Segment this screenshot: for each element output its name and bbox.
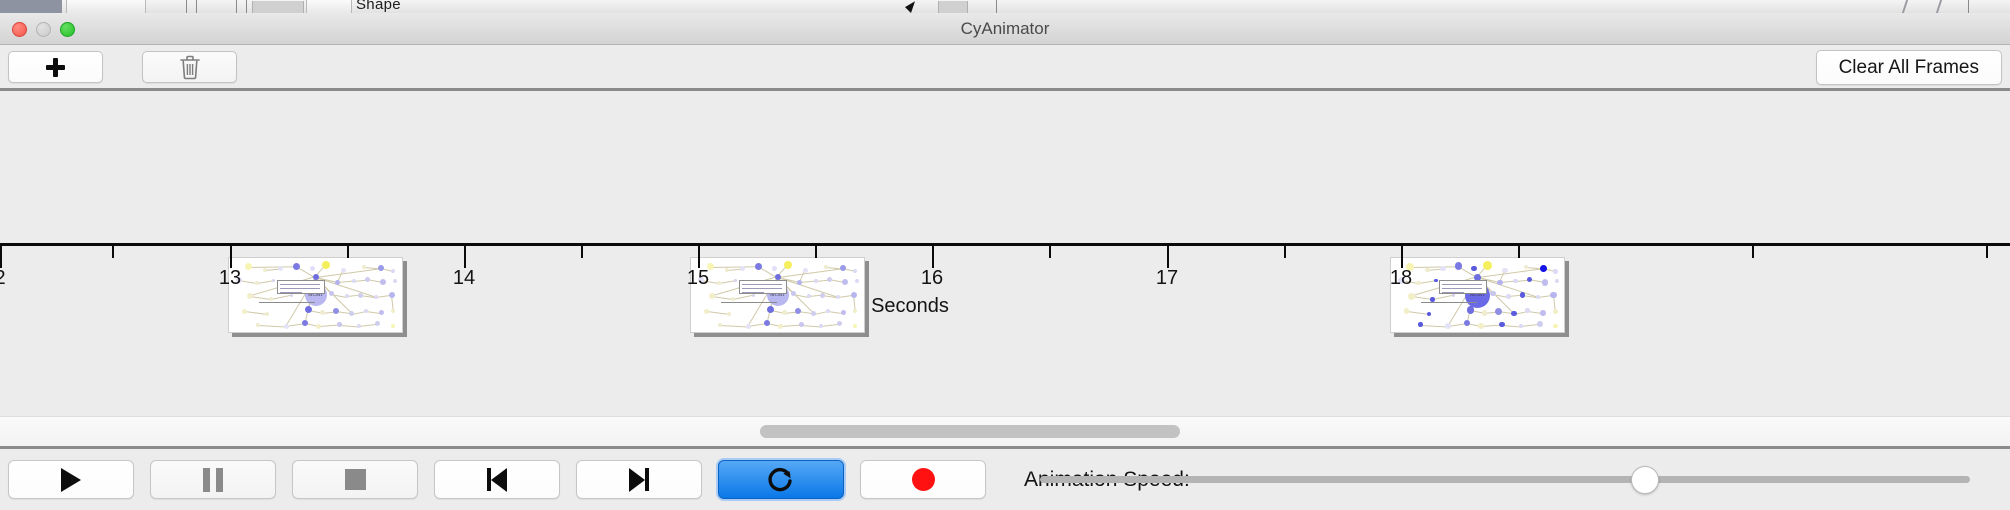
clear-all-frames-button[interactable]: Clear All Frames <box>1816 50 2002 85</box>
network-node <box>1536 295 1540 299</box>
network-node <box>746 324 751 329</box>
network-node <box>365 277 370 282</box>
window-title: CyAnimator <box>0 13 2010 45</box>
network-node <box>755 263 762 270</box>
network-node <box>391 309 395 313</box>
network-caption <box>259 302 315 303</box>
background-divider <box>246 0 247 13</box>
network-node <box>799 322 804 327</box>
network-node <box>725 268 729 272</box>
network-node <box>374 295 378 299</box>
timeline-tick-label: 14 <box>453 267 475 290</box>
tooltip-text-line <box>1442 292 1464 293</box>
network-caption <box>1421 302 1477 303</box>
network-node <box>245 263 252 270</box>
loop-button[interactable] <box>718 460 844 499</box>
network-node <box>791 291 796 296</box>
network-edge <box>706 311 729 315</box>
network-edge <box>316 268 382 278</box>
timeline-tick-major <box>1401 246 1403 268</box>
timeline-tick-label: 13 <box>219 267 241 290</box>
network-node <box>379 310 384 315</box>
network-tooltip <box>277 280 325 294</box>
network-edge <box>248 266 296 268</box>
network-node <box>322 261 330 269</box>
background-slash <box>1936 0 1954 13</box>
network-node <box>1418 322 1422 326</box>
background-window-label: Shape <box>356 0 401 13</box>
network-edge <box>1433 295 1454 300</box>
network-node <box>837 321 842 326</box>
network-node <box>389 292 395 298</box>
network-node <box>255 281 259 285</box>
network-tooltip <box>739 280 787 294</box>
network-caption <box>721 302 777 303</box>
network-node <box>1506 294 1510 298</box>
network-node <box>305 306 312 313</box>
background-divider <box>236 0 237 13</box>
network-node <box>1427 312 1431 316</box>
network-node <box>772 266 777 271</box>
skip-to-end-icon <box>629 468 649 492</box>
network-node <box>1525 308 1529 312</box>
background-window-segment <box>306 0 352 13</box>
tooltip-text-line <box>742 288 782 289</box>
network-thumbnail: MCM1 <box>691 258 864 332</box>
timeline-axis <box>0 243 2010 246</box>
tooltip-text-line <box>742 292 764 293</box>
loop-icon <box>766 465 796 495</box>
network-node <box>393 279 397 283</box>
network-node <box>1499 322 1505 328</box>
network-node <box>1520 292 1526 298</box>
network-node <box>824 265 828 269</box>
network-node <box>329 291 334 296</box>
network-node <box>811 311 816 316</box>
tooltip-text-line <box>742 284 782 285</box>
timeline-tick-minor <box>815 246 817 258</box>
network-node <box>247 293 253 299</box>
timeline-tick-minor <box>581 246 583 258</box>
network-node <box>1555 279 1559 283</box>
network-node <box>1540 310 1546 316</box>
network-node <box>320 310 325 315</box>
network-node <box>853 309 857 313</box>
network-edge <box>720 325 748 327</box>
network-node <box>734 279 737 282</box>
record-icon <box>912 468 935 491</box>
network-edge <box>1410 266 1458 268</box>
pause-icon <box>203 468 223 492</box>
network-node <box>333 308 339 314</box>
network-node <box>1550 292 1557 299</box>
network-node <box>1519 324 1523 328</box>
network-node <box>242 309 247 314</box>
background-divider <box>196 0 197 13</box>
network-node <box>1553 309 1557 313</box>
network-node <box>704 309 709 314</box>
background-window-segment <box>66 0 146 13</box>
network-edge <box>244 311 267 315</box>
plus-icon <box>46 58 65 77</box>
network-node <box>764 320 770 326</box>
animation-speed-thumb[interactable] <box>1631 466 1659 494</box>
playback-control-bar: Animation Speed: <box>0 449 2010 510</box>
network-node <box>391 324 395 328</box>
timeline-frame[interactable]: MCM1 <box>228 257 403 333</box>
network-node <box>310 266 315 271</box>
record-button[interactable] <box>860 460 986 499</box>
network-node <box>740 266 745 271</box>
network-edge <box>710 266 758 268</box>
network-node <box>855 279 859 283</box>
network-edge <box>1420 325 1448 327</box>
network-node <box>293 263 300 270</box>
network-node <box>784 261 792 269</box>
network-edge <box>258 325 286 327</box>
frame-thumbnail[interactable]: MCM1 <box>1390 257 1565 333</box>
network-edge <box>802 325 821 327</box>
network-node <box>1430 297 1434 301</box>
network-node <box>1416 281 1420 285</box>
background-divider <box>186 0 187 13</box>
network-edge <box>778 268 844 278</box>
timeline-panel[interactable]: MCM1MCM1MCM1 2131415161718 Seconds <box>0 91 2010 416</box>
network-node <box>819 324 823 328</box>
stop-icon <box>345 469 366 490</box>
network-node <box>375 321 380 326</box>
network-node <box>826 309 830 313</box>
network-node <box>803 268 808 273</box>
network-node <box>357 324 361 328</box>
timeline-tick-major <box>698 246 700 268</box>
tooltip-text-line <box>280 288 320 289</box>
timeline-tick-minor <box>1752 246 1754 258</box>
timeline-frame[interactable]: MCM1 <box>1390 257 1565 333</box>
skip-to-start-icon <box>487 468 507 492</box>
network-node <box>841 310 846 315</box>
timeline-tick-label: 15 <box>687 267 709 290</box>
network-thumbnail: MCM1 <box>1391 258 1564 332</box>
background-box <box>938 1 968 13</box>
network-node <box>1527 277 1533 283</box>
timeline-tick-minor <box>1986 246 1988 258</box>
background-box <box>252 1 304 13</box>
network-node <box>272 279 275 282</box>
network-node <box>1553 324 1557 328</box>
trash-icon <box>179 54 201 80</box>
network-edge <box>340 325 359 327</box>
background-divider <box>996 0 997 13</box>
skip-to-end-button[interactable] <box>576 460 702 499</box>
network-tooltip <box>1439 280 1487 294</box>
tooltip-text-line <box>1442 288 1482 289</box>
network-node <box>851 292 857 298</box>
network-node <box>1482 310 1488 316</box>
network-edge <box>271 295 292 300</box>
network-node <box>727 312 731 316</box>
stop-button[interactable] <box>292 460 418 499</box>
network-node <box>1524 265 1528 269</box>
network-node <box>1490 291 1496 297</box>
background-window-strip: Shape <box>0 0 2010 13</box>
network-thumbnail: MCM1 <box>229 258 402 332</box>
timeline-tick-major <box>464 246 466 268</box>
network-node <box>1445 323 1451 329</box>
timeline-scrollbar[interactable] <box>0 416 2010 446</box>
timeline-tick-minor <box>112 246 114 258</box>
network-node <box>717 281 721 285</box>
network-edge <box>1406 311 1429 315</box>
network-node <box>1434 279 1437 282</box>
play-icon <box>61 468 81 492</box>
network-node <box>1495 308 1502 315</box>
timeline-tick-major <box>230 246 232 268</box>
add-frame-button[interactable] <box>8 51 103 83</box>
network-node <box>1478 323 1484 329</box>
network-node <box>1537 321 1543 327</box>
network-node <box>284 324 289 329</box>
frame-thumbnail[interactable]: MCM1 <box>228 257 403 333</box>
timeline-axis-title: Seconds <box>871 295 949 318</box>
network-node <box>263 268 267 272</box>
tooltip-text-line <box>280 284 320 285</box>
network-node <box>1408 293 1415 300</box>
network-node <box>1425 268 1429 272</box>
network-node <box>1404 308 1410 314</box>
timeline-tick-label: 2 <box>0 267 6 290</box>
titlebar[interactable]: CyAnimator <box>0 13 2010 45</box>
timeline-tick-minor <box>1518 246 1520 258</box>
timeline-tick-minor <box>1049 246 1051 258</box>
network-node <box>341 268 346 273</box>
network-node <box>1440 266 1446 272</box>
background-window-titlebar <box>0 0 62 13</box>
network-node <box>840 265 846 271</box>
toolbar: Clear All Frames <box>0 45 2010 88</box>
network-node <box>853 269 857 273</box>
animation-speed-slider[interactable] <box>1040 449 1970 510</box>
network-node <box>836 295 840 299</box>
background-slash <box>1902 0 1920 13</box>
network-node <box>709 293 715 299</box>
network-node <box>778 324 783 329</box>
tooltip-text-line <box>280 292 302 293</box>
network-node <box>316 324 321 329</box>
network-node <box>827 277 832 282</box>
network-node <box>795 308 801 314</box>
network-node <box>1553 269 1557 273</box>
pause-button[interactable] <box>150 460 276 499</box>
background-cursor-glyph <box>905 0 915 13</box>
network-node <box>1471 266 1477 272</box>
network-node <box>362 265 366 269</box>
network-node <box>1540 265 1547 272</box>
network-node <box>302 320 308 326</box>
network-node <box>364 309 368 313</box>
timeline-tick-major <box>932 246 934 268</box>
tooltip-text-line <box>1442 284 1482 285</box>
timeline-tick-label: 18 <box>1390 267 1412 290</box>
network-node <box>814 279 818 283</box>
network-node <box>265 312 269 316</box>
animation-speed-track[interactable] <box>1040 476 1970 483</box>
network-node <box>842 279 848 285</box>
network-node <box>269 297 273 301</box>
network-node <box>380 279 386 285</box>
timeline-scrollbar-thumb[interactable] <box>760 425 1180 438</box>
network-node <box>853 324 857 328</box>
timeline-tick-label: 17 <box>1156 267 1178 290</box>
cyanimator-window: Shape CyAnimator Clear All Frames <box>0 0 2010 510</box>
network-node <box>1497 280 1503 286</box>
network-node <box>349 311 354 316</box>
network-node <box>782 310 787 315</box>
timeline-tick-major <box>0 246 2 268</box>
network-node <box>352 279 356 283</box>
network-node <box>1483 261 1492 270</box>
frame-thumbnail[interactable]: MCM1 <box>690 257 865 333</box>
network-edge <box>1502 325 1521 327</box>
timeline-tick-label: 16 <box>921 267 943 290</box>
delete-frame-button[interactable] <box>142 51 237 83</box>
network-node <box>391 269 395 273</box>
play-button[interactable] <box>8 460 134 499</box>
timeline-tick-major <box>1167 246 1169 268</box>
timeline-tick-minor <box>347 246 349 258</box>
background-divider <box>1968 0 1969 13</box>
network-node <box>358 293 363 298</box>
timeline-tick-minor <box>1284 246 1286 258</box>
network-node <box>767 306 774 313</box>
network-node <box>820 293 825 298</box>
timeline-frame[interactable]: MCM1 <box>690 257 865 333</box>
network-node <box>1511 311 1517 317</box>
network-node <box>731 297 735 301</box>
network-edge <box>733 295 754 300</box>
network-node <box>278 266 283 271</box>
network-node <box>378 265 384 271</box>
network-node <box>1513 279 1517 283</box>
network-node <box>337 322 342 327</box>
network-node <box>1464 320 1471 327</box>
network-node <box>1542 279 1549 286</box>
skip-to-start-button[interactable] <box>434 460 560 499</box>
